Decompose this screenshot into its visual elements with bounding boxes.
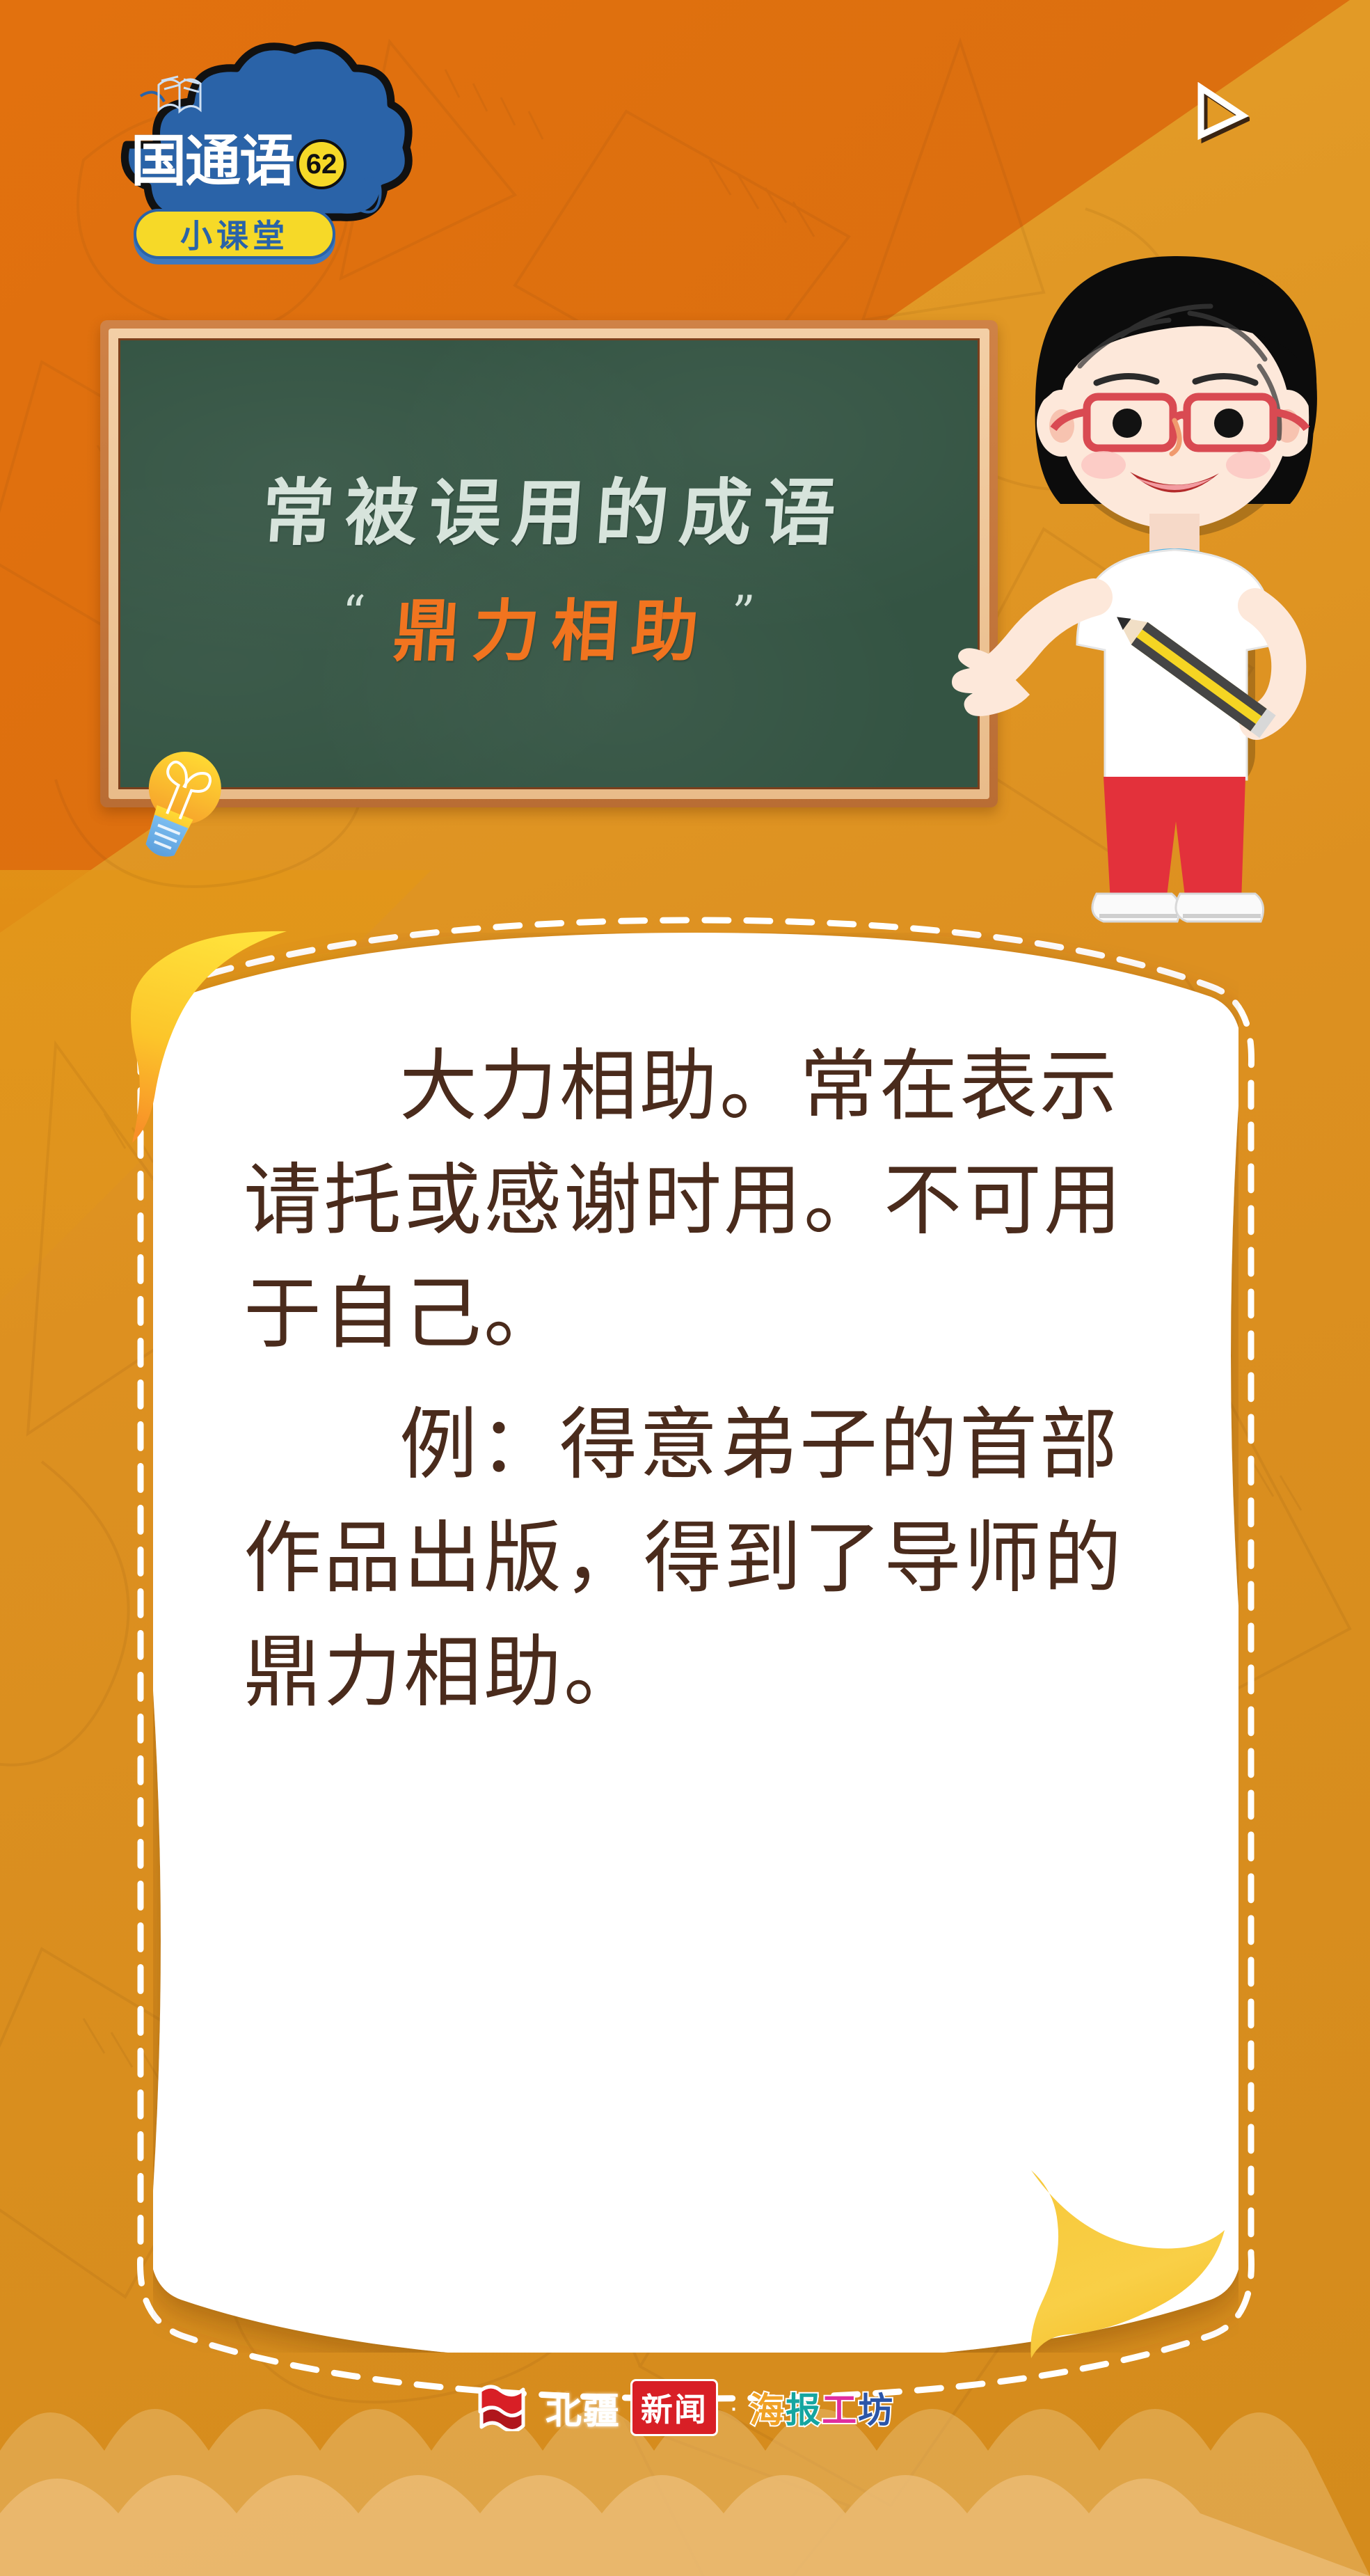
red-flag-icon [476,2384,536,2431]
blackboard-frame: 常被误用的成语 “ 鼎力相助 ” [109,329,989,799]
card-fold-top-left [131,919,340,1148]
footer-name: 北疆 [545,2382,621,2434]
logo-subtitle-text: 小课堂 [180,211,289,257]
blackboard: 常被误用的成语 “ 鼎力相助 ” [100,320,998,807]
blackboard-idiom: 鼎力相助 [390,577,715,674]
lightbulb-icon [138,743,235,883]
footer-brand-bar: 北疆 新闻 · 海报工坊 [0,2379,1370,2436]
card-text-block: 大力相助。常在表示请托或感谢时用。不可用于自己。 例：得意弟子的首部作品出版，得… [244,1030,1148,1730]
footer-studio-char-4: 坊 [858,2389,894,2431]
footer-studio: 海报工坊 [749,2383,894,2433]
footer-news-tag: 新闻 [630,2379,718,2436]
logo-subtitle-banner: 小课堂 [134,209,335,259]
footer-separator: · [729,2392,738,2424]
quote-close: ” [732,590,756,636]
footer-studio-char-1: 海 [749,2389,786,2431]
blackboard-title: 常被误用的成语 [259,454,851,559]
student-boy-mascot [960,230,1370,926]
footer-studio-char-2: 报 [786,2389,822,2431]
paragraph-definition: 大力相助。常在表示请托或感谢时用。不可用于自己。 [244,1030,1148,1372]
blackboard-surface: 常被误用的成语 “ 鼎力相助 ” [118,338,980,789]
card-fold-bottom-right [1023,2163,1252,2393]
footer-studio-char-3: 工 [822,2389,858,2431]
play-triangle-icon[interactable] [1194,82,1250,143]
paragraph-example: 例：得意弟子的首部作品出版，得到了导师的鼎力相助。 [244,1389,1148,1730]
poster-root: 国通语 62 小课堂 常被误用的成语 “ 鼎力相助 ” [0,0,1370,2576]
blackboard-idiom-row: “ 鼎力相助 ” [342,577,756,674]
quote-open: “ [342,590,366,636]
brand-logo[interactable]: 国通语 62 小课堂 [97,61,397,270]
logo-episode-badge: 62 [296,139,347,189]
